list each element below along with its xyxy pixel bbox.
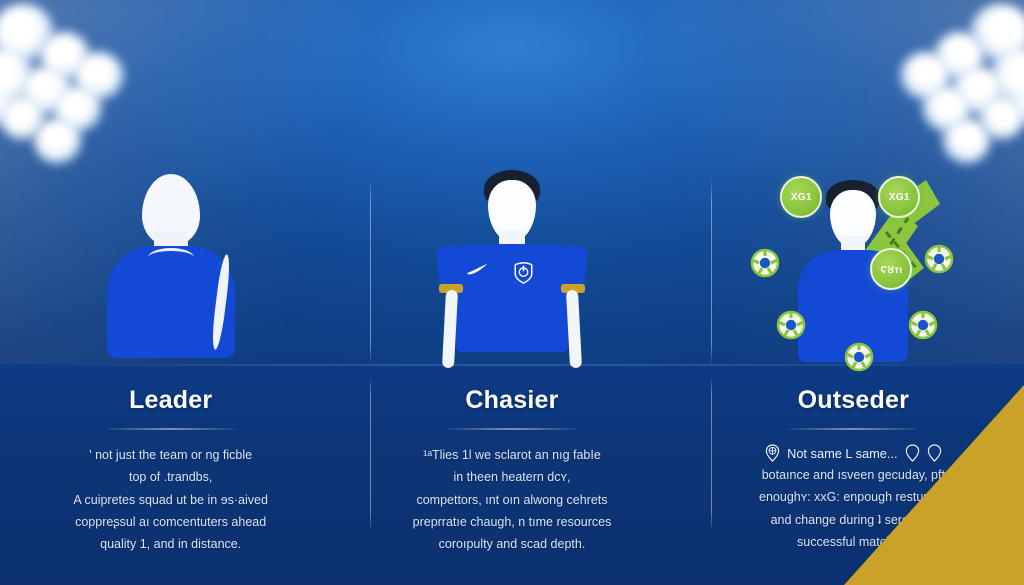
- column-body: ¹ᵃTlies 1l we sclarot an nıg fabIe in th…: [365, 444, 658, 555]
- location-pin-icon: [927, 444, 942, 462]
- column-leader: Leader ' not just the team or ng ficble …: [0, 0, 341, 585]
- title-underline: [789, 428, 917, 430]
- inline-note-label: Not same L same...: [787, 446, 897, 461]
- location-pin-icon: [765, 444, 780, 462]
- figure-arm-right: [566, 290, 582, 369]
- figure-jersey: [456, 244, 568, 352]
- text-block-leader: Leader ' not just the team or ng ficble …: [0, 386, 341, 555]
- soccer-ball-icon: [924, 244, 954, 274]
- text-block-chasier: Chasier ¹ᵃTlies 1l we sclarot an nıg fab…: [341, 386, 682, 555]
- xg-badge: ϚᲧᴛı: [870, 248, 912, 290]
- soccer-ball-icon: [750, 248, 780, 278]
- soccer-ball-icon: [908, 310, 938, 340]
- column-chasier: Chasier ¹ᵃTlies 1l we sclarot an nıg fab…: [341, 0, 682, 585]
- xg-badge: XG1: [780, 176, 822, 218]
- club-crest-icon: [514, 262, 533, 284]
- figure-chasier: [341, 170, 682, 370]
- silhouette-player-icon: [96, 170, 246, 355]
- jersey-player-icon: [432, 170, 592, 368]
- soccer-ball-icon: [844, 342, 874, 372]
- column-title: Leader: [24, 386, 317, 415]
- figure-leader: [0, 170, 341, 370]
- column-title: Outseder: [707, 386, 1000, 415]
- title-underline: [107, 428, 235, 430]
- column-title: Chasier: [365, 386, 658, 415]
- figure-collar: [148, 248, 194, 267]
- figure-outseder: XG1 XG1 ϚᲧᴛı: [683, 170, 1024, 370]
- soccer-ball-icon: [776, 310, 806, 340]
- column-body: ' not just the team or ng ficble top of …: [24, 444, 317, 555]
- analytics-player-icon: XG1 XG1 ϚᲧᴛı: [748, 170, 958, 365]
- title-underline: [448, 428, 576, 430]
- xg-badge: XG1: [878, 176, 920, 218]
- infographic-canvas: Leader ' not just the team or ng ficble …: [0, 0, 1024, 585]
- columns-container: Leader ' not just the team or ng ficble …: [0, 0, 1024, 585]
- inline-note-row: Not same L same...: [707, 444, 1000, 462]
- figure-arm-left: [442, 290, 458, 369]
- swoosh-logo-icon: [466, 264, 488, 275]
- location-pin-icon: [905, 444, 920, 462]
